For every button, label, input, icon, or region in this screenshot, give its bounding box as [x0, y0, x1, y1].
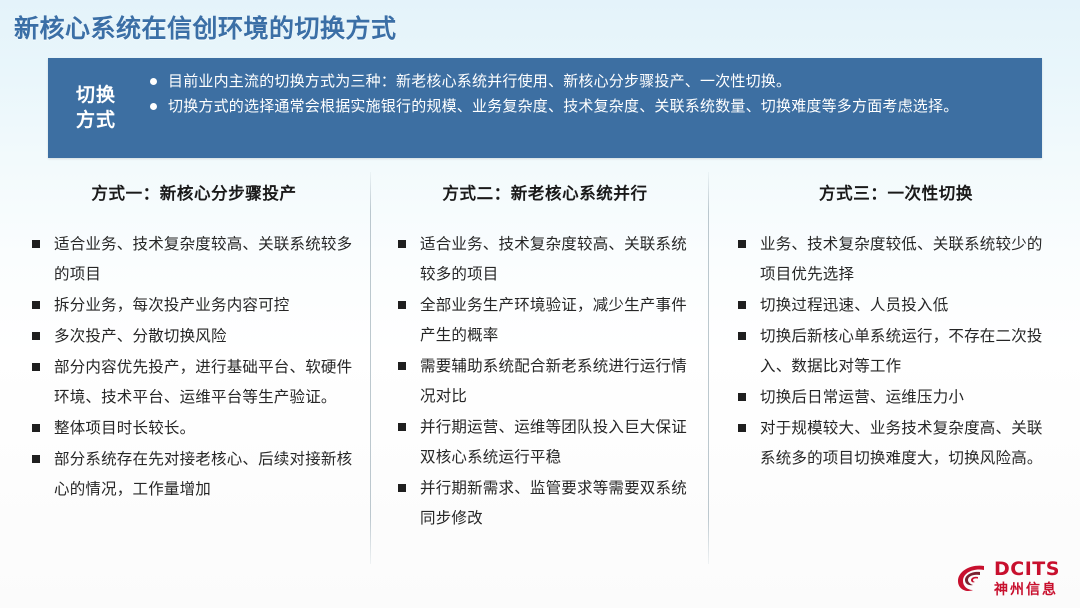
column-method-one: 方式一：新核心分步骤投产 适合业务、技术复杂度较高、关联系统较多的项目 拆分业务… [10, 172, 370, 564]
bullet-square-icon [738, 301, 746, 309]
column-heading: 方式一：新核心分步骤投产 [30, 172, 354, 203]
bullet-square-icon [32, 455, 40, 463]
list-item: 适合业务、技术复杂度较高、关联系统较多的项目 [396, 229, 694, 289]
column-bullet-list: 适合业务、技术复杂度较高、关联系统较多的项目 全部业务生产环境验证，减少生产事件… [396, 229, 694, 533]
bullet-square-icon [398, 362, 406, 370]
list-item-text: 业务、技术复杂度较低、关联系统较少的项目优先选择 [760, 235, 1043, 283]
bullet-square-icon [32, 424, 40, 432]
bullet-square-icon [738, 332, 746, 340]
list-item: 业务、技术复杂度较低、关联系统较少的项目优先选择 [736, 229, 1056, 289]
list-item: 部分系统存在先对接老核心、后续对接新核心的情况，工作量增加 [30, 444, 354, 504]
list-item-text: 对于规模较大、业务技术复杂度高、关联系统多的项目切换难度大，切换风险高。 [760, 419, 1043, 467]
list-item: 切换后新核心单系统运行，不存在二次投入、数据比对等工作 [736, 321, 1056, 381]
list-item-text: 全部业务生产环境验证，减少生产事件产生的概率 [420, 296, 687, 344]
summary-label-line-2: 方式 [76, 108, 116, 133]
company-logo: DCITS 神州信息 [954, 556, 1072, 600]
bullet-square-icon [738, 424, 746, 432]
dcits-swirl-icon [954, 559, 992, 597]
page-title: 新核心系统在信创环境的切换方式 [14, 9, 397, 45]
summary-bullet-item: 切换方式的选择通常会根据实施银行的规模、业务复杂度、技术复杂度、关联系统数量、切… [148, 94, 1028, 119]
list-item: 切换过程迅速、人员投入低 [736, 290, 1056, 320]
summary-panel: 切换 方式 目前业内主流的切换方式为三种：新老核心系统并行使用、新核心分步骤投产… [48, 58, 1042, 158]
column-bullet-list: 适合业务、技术复杂度较高、关联系统较多的项目 拆分业务，每次投产业务内容可控 多… [30, 229, 354, 504]
slide-root: 新核心系统在信创环境的切换方式 切换 方式 目前业内主流的切换方式为三种：新老核… [0, 0, 1080, 608]
column-method-three: 方式三：一次性切换 业务、技术复杂度较低、关联系统较少的项目优先选择 切换过程迅… [708, 172, 1070, 564]
list-item-text: 多次投产、分散切换风险 [54, 327, 227, 345]
bullet-square-icon [398, 423, 406, 431]
list-item: 切换后日常运营、运维压力小 [736, 382, 1056, 412]
logo-english-name: DCITS [994, 560, 1060, 579]
column-bullet-list: 业务、技术复杂度较低、关联系统较少的项目优先选择 切换过程迅速、人员投入低 切换… [736, 229, 1056, 473]
bullet-square-icon [32, 363, 40, 371]
bullet-square-icon [398, 301, 406, 309]
list-item: 整体项目时长较长。 [30, 413, 354, 443]
list-item-text: 并行期新需求、监管要求等需要双系统同步修改 [420, 479, 687, 527]
list-item-text: 切换过程迅速、人员投入低 [760, 296, 948, 314]
list-item-text: 切换后新核心单系统运行，不存在二次投入、数据比对等工作 [760, 327, 1043, 375]
summary-bullet-text: 切换方式的选择通常会根据实施银行的规模、业务复杂度、技术复杂度、关联系统数量、切… [168, 97, 958, 115]
column-heading: 方式三：一次性切换 [736, 172, 1056, 203]
list-item-text: 适合业务、技术复杂度较高、关联系统较多的项目 [420, 235, 687, 283]
column-heading: 方式二：新老核心系统并行 [396, 172, 694, 203]
list-item: 对于规模较大、业务技术复杂度高、关联系统多的项目切换难度大，切换风险高。 [736, 413, 1056, 473]
column-method-two: 方式二：新老核心系统并行 适合业务、技术复杂度较高、关联系统较多的项目 全部业务… [370, 172, 708, 564]
list-item-text: 适合业务、技术复杂度较高、关联系统较多的项目 [54, 235, 352, 283]
list-item: 部分内容优先投产，进行基础平台、软硬件环境、技术平台、运维平台等生产验证。 [30, 352, 354, 412]
list-item: 并行期运营、运维等团队投入巨大保证双核心系统运行平稳 [396, 412, 694, 472]
list-item-text: 需要辅助系统配合新老系统进行运行情况对比 [420, 357, 687, 405]
summary-bullet-text: 目前业内主流的切换方式为三种：新老核心系统并行使用、新核心分步骤投产、一次性切换… [168, 72, 791, 90]
list-item-text: 整体项目时长较长。 [54, 419, 195, 437]
list-item: 适合业务、技术复杂度较高、关联系统较多的项目 [30, 229, 354, 289]
bullet-square-icon [32, 240, 40, 248]
list-item: 多次投产、分散切换风险 [30, 321, 354, 351]
comparison-columns: 方式一：新核心分步骤投产 适合业务、技术复杂度较高、关联系统较多的项目 拆分业务… [10, 172, 1070, 564]
bullet-square-icon [738, 240, 746, 248]
summary-label-line-1: 切换 [76, 83, 116, 108]
bullet-square-icon [738, 393, 746, 401]
summary-bullet-list: 目前业内主流的切换方式为三种：新老核心系统并行使用、新核心分步骤投产、一次性切换… [136, 58, 1042, 158]
list-item: 全部业务生产环境验证，减少生产事件产生的概率 [396, 290, 694, 350]
bullet-square-icon [32, 332, 40, 340]
summary-panel-label: 切换 方式 [48, 58, 136, 158]
bullet-dot-icon [150, 103, 157, 110]
list-item: 需要辅助系统配合新老系统进行运行情况对比 [396, 351, 694, 411]
bullet-square-icon [32, 301, 40, 309]
list-item: 并行期新需求、监管要求等需要双系统同步修改 [396, 473, 694, 533]
logo-chinese-name: 神州信息 [994, 583, 1060, 597]
list-item-text: 部分内容优先投产，进行基础平台、软硬件环境、技术平台、运维平台等生产验证。 [54, 358, 352, 406]
bullet-square-icon [398, 240, 406, 248]
list-item-text: 部分系统存在先对接老核心、后续对接新核心的情况，工作量增加 [54, 450, 352, 498]
summary-bullet-item: 目前业内主流的切换方式为三种：新老核心系统并行使用、新核心分步骤投产、一次性切换… [148, 69, 1028, 94]
list-item: 拆分业务，每次投产业务内容可控 [30, 290, 354, 320]
list-item-text: 并行期运营、运维等团队投入巨大保证双核心系统运行平稳 [420, 418, 687, 466]
list-item-text: 切换后日常运营、运维压力小 [760, 388, 964, 406]
bullet-dot-icon [150, 78, 157, 85]
logo-text: DCITS 神州信息 [994, 560, 1060, 597]
list-item-text: 拆分业务，每次投产业务内容可控 [54, 296, 290, 314]
bullet-square-icon [398, 484, 406, 492]
